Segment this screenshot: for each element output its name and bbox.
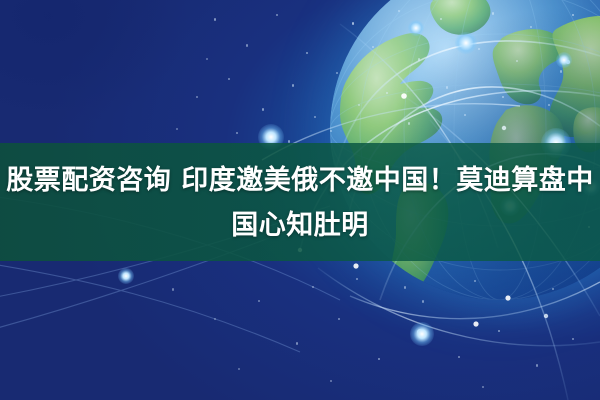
headline-line-2: 国心知肚明 <box>0 203 600 248</box>
headline-line-1: 股票配资咨询 印度邀美俄不邀中国！莫迪算盘中 <box>0 158 600 203</box>
banner-image: 股票配资咨询 印度邀美俄不邀中国！莫迪算盘中 国心知肚明 <box>0 0 600 400</box>
